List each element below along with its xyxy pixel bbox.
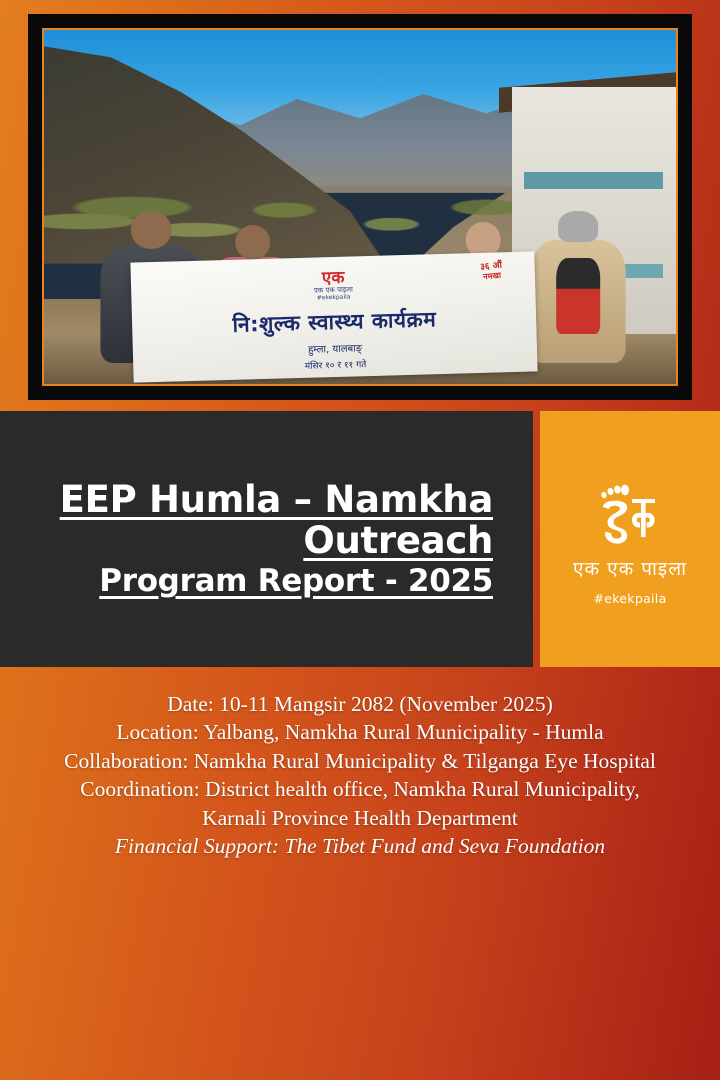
banner-right-mark: ३६ औं नमखा — [481, 261, 504, 282]
detail-coordination-line-2: Karnali Province Health Department — [0, 804, 720, 832]
details-block: Date: 10-11 Mangsir 2082 (November 2025)… — [0, 690, 720, 860]
detail-financial-support: Financial Support: The Tibet Fund and Se… — [0, 832, 720, 860]
photo-person-inner-jacket — [556, 258, 600, 334]
photo-person-head — [235, 225, 270, 260]
page-title-line-2: Outreach — [303, 520, 493, 562]
cover-photo-frame: एक एक एक पाइला #ekekpaila ३६ औं नमखा नि:… — [28, 14, 692, 400]
banner-logo-mark: एक — [322, 270, 345, 288]
photo-person — [531, 182, 626, 363]
banner-logo: एक एक एक पाइला #ekekpaila — [297, 264, 371, 307]
banner-main-text: नि:शुल्क स्वास्थ्य कार्यक्रम — [132, 301, 537, 340]
photo-person-head — [131, 211, 171, 249]
brand-logo-panel: एक एक पाइला #ekekpaila — [540, 411, 720, 667]
page-title-line-3: Program Report - 2025 — [99, 564, 493, 599]
cover-photo-inner-border: एक एक एक पाइला #ekekpaila ३६ औं नमखा नि:… — [42, 28, 678, 386]
banner-logo-sub-latin: #ekekpaila — [317, 294, 351, 302]
banner-right-mark-line2: नमखा — [482, 271, 504, 282]
detail-collaboration: Collaboration: Namkha Rural Municipality… — [0, 747, 720, 775]
title-panel: EEP Humla – Namkha Outreach Program Repo… — [0, 411, 533, 667]
detail-coordination-line-1: Coordination: District health office, Na… — [0, 775, 720, 803]
footprint-ek-logo-icon — [591, 483, 669, 549]
photo-person-hat — [558, 211, 598, 242]
page-title-line-1: EEP Humla – Namkha — [60, 479, 493, 521]
photo-banner: एक एक एक पाइला #ekekpaila ३६ औं नमखा नि:… — [131, 251, 539, 383]
detail-date: Date: 10-11 Mangsir 2082 (November 2025) — [0, 690, 720, 718]
cover-photo: एक एक एक पाइला #ekekpaila ३६ औं नमखा नि:… — [44, 30, 676, 384]
brand-tagline: एक एक पाइला — [573, 555, 687, 581]
brand-hashtag: #ekekpaila — [593, 591, 666, 606]
detail-location: Location: Yalbang, Namkha Rural Municipa… — [0, 718, 720, 746]
